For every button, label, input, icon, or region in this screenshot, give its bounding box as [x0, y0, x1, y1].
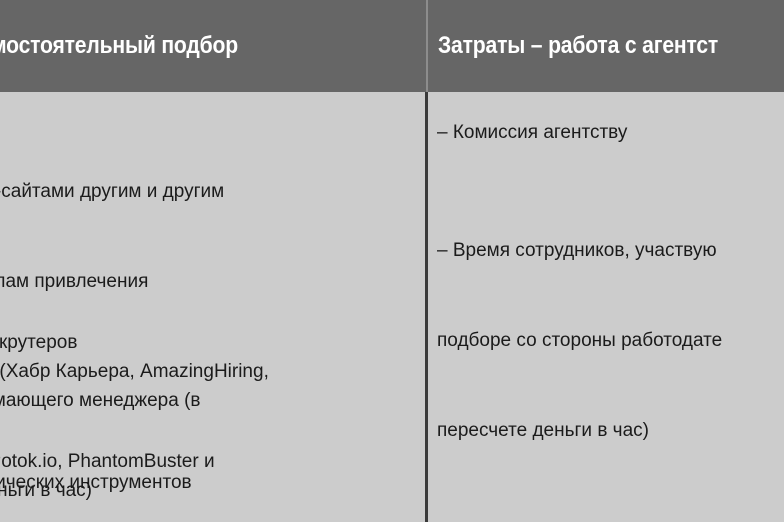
- bullet-line: пересчете деньги в час): [437, 416, 784, 446]
- column-header-self-recruiting: аты – самостоятельный подбор: [0, 0, 380, 92]
- column-header-agency-recruiting: Затраты – работа с агентст: [438, 0, 784, 92]
- list-item: – Комиссия агентству: [437, 118, 784, 148]
- table-header-row: аты – самостоятельный подбор Затраты – р…: [0, 0, 784, 92]
- list-item: – Время сотрудников, участвую подборе со…: [437, 176, 784, 506]
- bullet-line: – Комиссия агентству: [437, 118, 784, 148]
- left-column-body: туп к job-сайтами другим и другим ым кан…: [0, 92, 422, 522]
- bullet-line: подборе со стороны работодате: [437, 326, 784, 356]
- comparison-table: аты – самостоятельный подбор Затраты – р…: [0, 0, 784, 522]
- bullet-line: туп к job-сайтами другим и другим: [0, 177, 422, 207]
- list-item: ата технических инструментов льная связь…: [0, 408, 432, 522]
- bullet-line: ата технических инструментов: [0, 468, 432, 498]
- right-column-body: – Комиссия агентству – Время сотрудников…: [437, 92, 784, 522]
- bullet-line: – Время сотрудников, участвую: [437, 236, 784, 266]
- column-divider-header: [426, 0, 428, 92]
